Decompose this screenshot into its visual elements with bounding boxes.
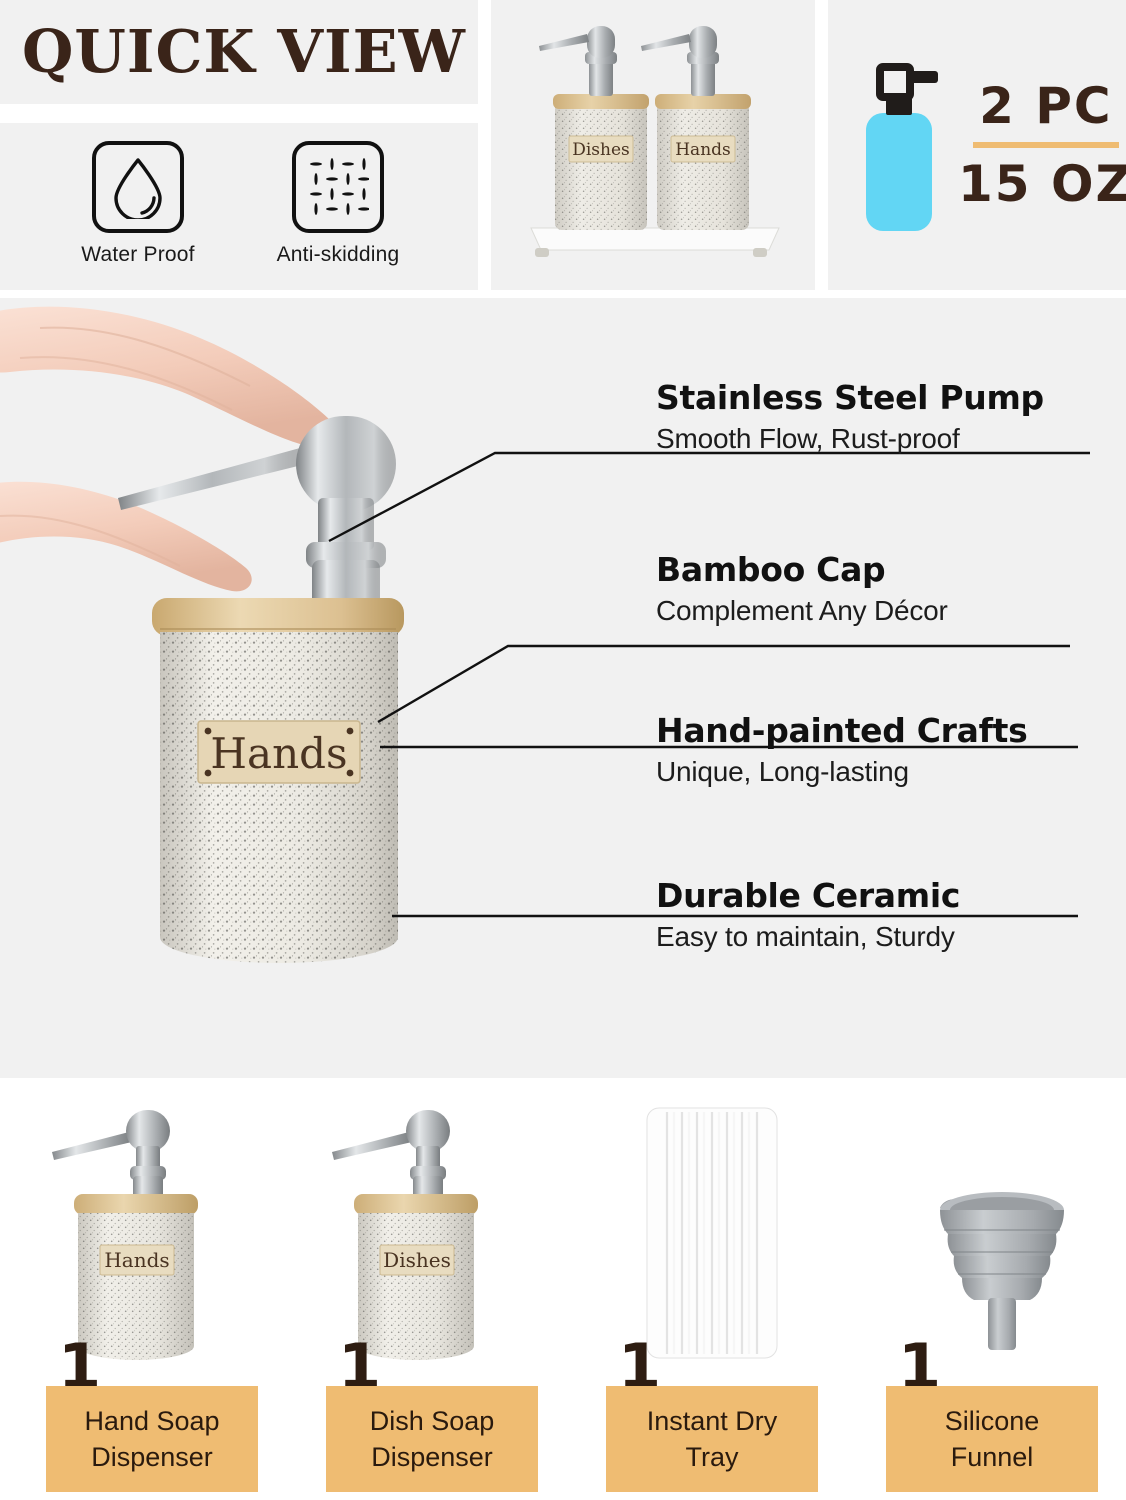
item-label-line1: Hand Soap <box>84 1403 219 1439</box>
dispenser-dishes: Dishes <box>539 26 649 230</box>
feature-detail-panel: Hands Stainless Steel Pump Smooth Flow, … <box>0 298 1126 1078</box>
dishes-dispenser-photo: Dishes <box>292 1078 573 1388</box>
anti-skid-grid-icon <box>307 156 369 218</box>
plaque-text: Dishes <box>383 1248 451 1272</box>
callout-stainless-steel-pump: Stainless Steel Pump Smooth Flow, Rust-p… <box>656 378 1044 458</box>
pump-spout <box>118 448 306 510</box>
hands-dispenser-photo: Hands <box>12 1078 293 1388</box>
badge-anti-skidding: Anti-skidding <box>245 141 431 267</box>
item-label-line2: Dispenser <box>91 1439 213 1475</box>
header-product-photo: Dishes Hands <box>491 0 815 290</box>
callout-subtitle: Unique, Long-lasting <box>656 753 1028 791</box>
anti-skidding-icon-box <box>292 141 384 233</box>
included-item: 1 Silicone Funnel <box>852 1078 1126 1500</box>
plaque-text: Hands <box>104 1248 169 1272</box>
callout-title: Durable Ceramic <box>656 876 960 916</box>
item-label: Instant Dry Tray <box>606 1386 818 1492</box>
piece-count: 2 PC <box>979 77 1113 135</box>
badge-label: Water Proof <box>81 243 194 267</box>
badge-label: Anti-skidding <box>277 243 400 267</box>
plaque-text: Hands <box>210 729 347 778</box>
hand-pressing <box>0 307 337 449</box>
spec-badge-panel: 2 PC 15 OZ <box>828 0 1126 290</box>
item-label-line1: Instant Dry <box>647 1403 778 1439</box>
callout-subtitle: Complement Any Décor <box>656 592 948 630</box>
bamboo-cap <box>152 598 404 636</box>
ribbed-white-drying-tray-photo <box>572 1078 853 1388</box>
water-proof-icon-box <box>92 141 184 233</box>
plaque-text: Hands <box>675 140 731 160</box>
two-dispensers-on-tray-illustration: Dishes Hands <box>491 0 815 290</box>
badge-water-proof: Water Proof <box>45 141 231 267</box>
plaque-text: Dishes <box>572 140 630 160</box>
dispenser-hands: Hands <box>641 26 751 230</box>
capacity: 15 OZ <box>958 155 1126 213</box>
quick-view-panel: QUICK VIEW <box>0 0 478 104</box>
item-label-line2: Dispenser <box>371 1439 493 1475</box>
callout-subtitle: Smooth Flow, Rust-proof <box>656 420 1044 458</box>
header-band: QUICK VIEW Water Proof <box>0 0 1126 290</box>
callout-subtitle: Easy to maintain, Sturdy <box>656 918 960 956</box>
item-label: Hand Soap Dispenser <box>46 1386 258 1492</box>
callout-title: Stainless Steel Pump <box>656 378 1044 418</box>
callout-hand-painted-crafts: Hand-painted Crafts Unique, Long-lasting <box>656 711 1028 791</box>
included-items-strip: Hands 1 Hand Soap Dispenser Dishes 1 Dis… <box>0 1078 1126 1500</box>
item-label: Silicone Funnel <box>886 1386 1098 1492</box>
badge-divider <box>973 142 1119 148</box>
callout-durable-ceramic: Durable Ceramic Easy to maintain, Sturdy <box>656 876 960 956</box>
included-item: 1 Instant Dry Tray <box>572 1078 853 1500</box>
item-label: Dish Soap Dispenser <box>326 1386 538 1492</box>
item-label-line2: Funnel <box>951 1439 1034 1475</box>
hands-plaque: Hands <box>198 721 360 783</box>
page-title: QUICK VIEW <box>22 10 466 94</box>
soap-pump-bottle-icon <box>856 55 942 235</box>
callout-title: Bamboo Cap <box>656 550 948 590</box>
callout-bamboo-cap: Bamboo Cap Complement Any Décor <box>656 550 948 630</box>
feature-badges-panel: Water Proof <box>0 123 478 290</box>
included-item: Hands 1 Hand Soap Dispenser <box>12 1078 293 1500</box>
water-drop-icon <box>110 155 166 219</box>
pump-head <box>296 416 396 512</box>
callout-title: Hand-painted Crafts <box>656 711 1028 751</box>
included-item: Dishes 1 Dish Soap Dispenser <box>292 1078 573 1500</box>
hero-product-photo: Hands <box>0 298 620 1078</box>
item-label-line2: Tray <box>686 1439 739 1475</box>
item-label-line1: Silicone <box>945 1403 1040 1439</box>
gray-collapsible-funnel-photo <box>852 1078 1126 1388</box>
item-label-line1: Dish Soap <box>370 1403 495 1439</box>
